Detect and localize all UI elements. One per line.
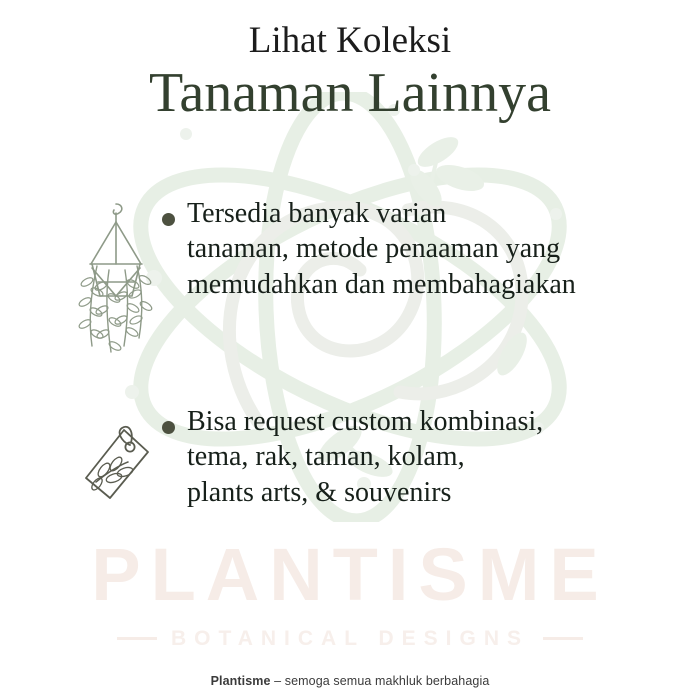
promo-card: PLANTISME BOTANICAL DESIGNS Lihat Koleks…	[0, 0, 700, 700]
bullet-dot-icon	[162, 213, 175, 226]
bullet-list: Tersedia banyak varian tanaman, metode p…	[0, 0, 700, 700]
footer-tagline: semoga semua makhluk berbahagia	[285, 674, 490, 688]
price-tag-leaf-icon	[70, 404, 162, 518]
footer-separator: –	[271, 674, 285, 688]
list-item: Tersedia banyak varian tanaman, metode p…	[70, 196, 576, 360]
footer-brand: Plantisme	[211, 674, 271, 688]
list-item-text: Tersedia banyak varian tanaman, metode p…	[187, 196, 576, 302]
list-item-text: Bisa request custom kombinasi, tema, rak…	[187, 404, 543, 510]
bullet-dot-icon	[162, 421, 175, 434]
footer-caption: Plantisme – semoga semua makhluk berbaha…	[0, 674, 700, 688]
hanging-plant-icon	[70, 196, 162, 360]
list-item: Bisa request custom kombinasi, tema, rak…	[70, 404, 543, 518]
